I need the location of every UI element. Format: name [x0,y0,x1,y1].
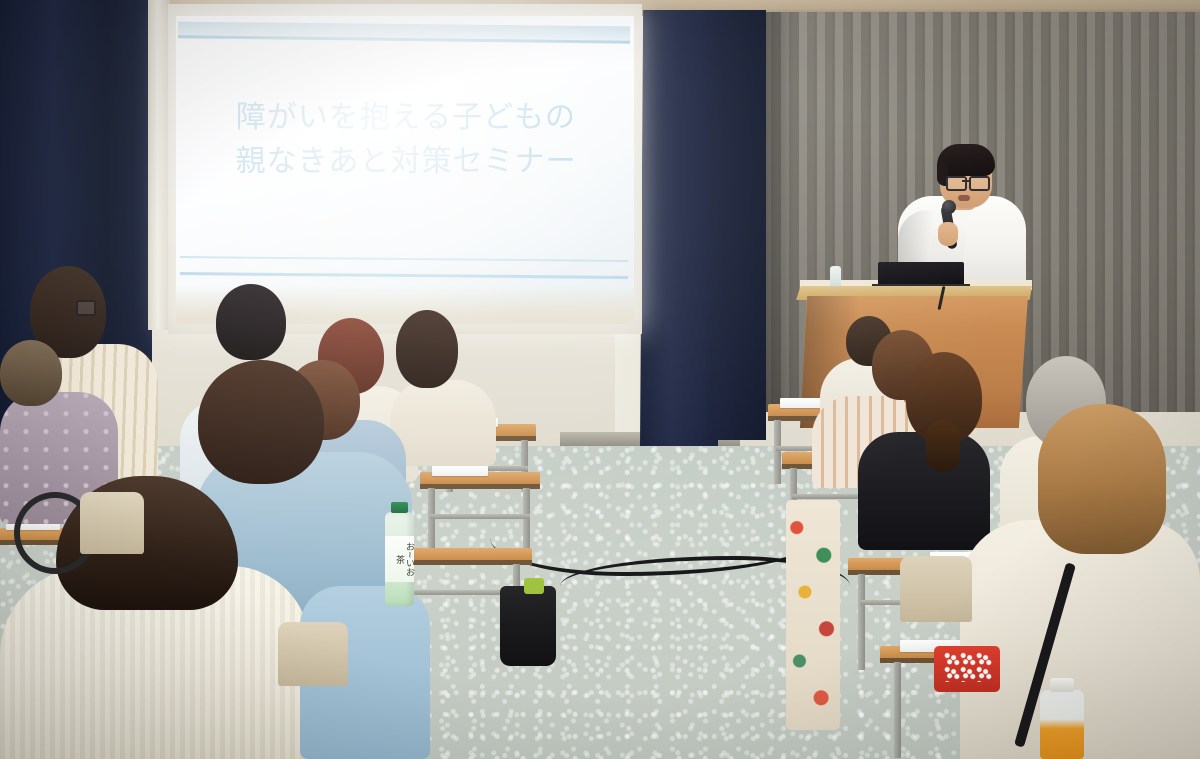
desk-leg [858,574,865,670]
bottle-cap [391,502,408,513]
floral-tote-bag [786,500,840,730]
audience-member-head [396,310,458,388]
handout-paper [432,466,488,476]
audience-member-head [198,360,324,484]
chair-back [900,556,972,622]
chair-back [278,622,348,686]
glasses-icon-bridge [962,180,970,182]
green-tea-bottle: お~いお茶 [385,512,414,606]
wall-pillar-left [148,0,170,330]
desk-left-mid [420,472,540,556]
audience-member-head [0,340,62,406]
chair-back [80,492,144,554]
slide-title-text: 障がいを抱える子どもの 親なきあと対策セミナー [186,96,626,183]
audience-member-torso [858,432,990,550]
desk-leg [894,662,901,758]
black-shoulder-bag [500,586,556,666]
desk-leg [428,488,435,556]
desk-leg [523,488,530,556]
gray-curtain-shadow [760,12,800,412]
audience-member-torso [390,380,496,466]
bottle-label: お~いお茶 [385,536,414,582]
seminar-room-photo: 障がいを抱える子どもの 親なきあと対策セミナー [0,0,1200,759]
bottle-label-text: お~いお茶 [385,538,414,580]
presenter-hand [938,222,958,246]
presenter-mouth [958,195,970,201]
glasses-icon-left-lens [946,176,967,191]
audience-member-head [1038,404,1166,554]
audience-member-ponytail [926,420,960,472]
glasses-icon-left-lens [76,300,96,316]
red-bag-pattern [944,652,992,682]
navy-curtain-center-2 [706,10,766,440]
desk-leg [774,420,781,484]
microphone-icon [942,200,956,214]
bottle-cap [1050,678,1074,692]
glasses-icon-right-lens [969,176,990,191]
orange-drink-bottle [1040,690,1084,759]
laptop-screen [878,262,964,286]
bag-green-tag [524,578,544,594]
podium-water-bottle [830,266,841,288]
desk-rail [430,514,530,519]
desk-edge [420,484,540,489]
audience-member-head [216,284,286,360]
